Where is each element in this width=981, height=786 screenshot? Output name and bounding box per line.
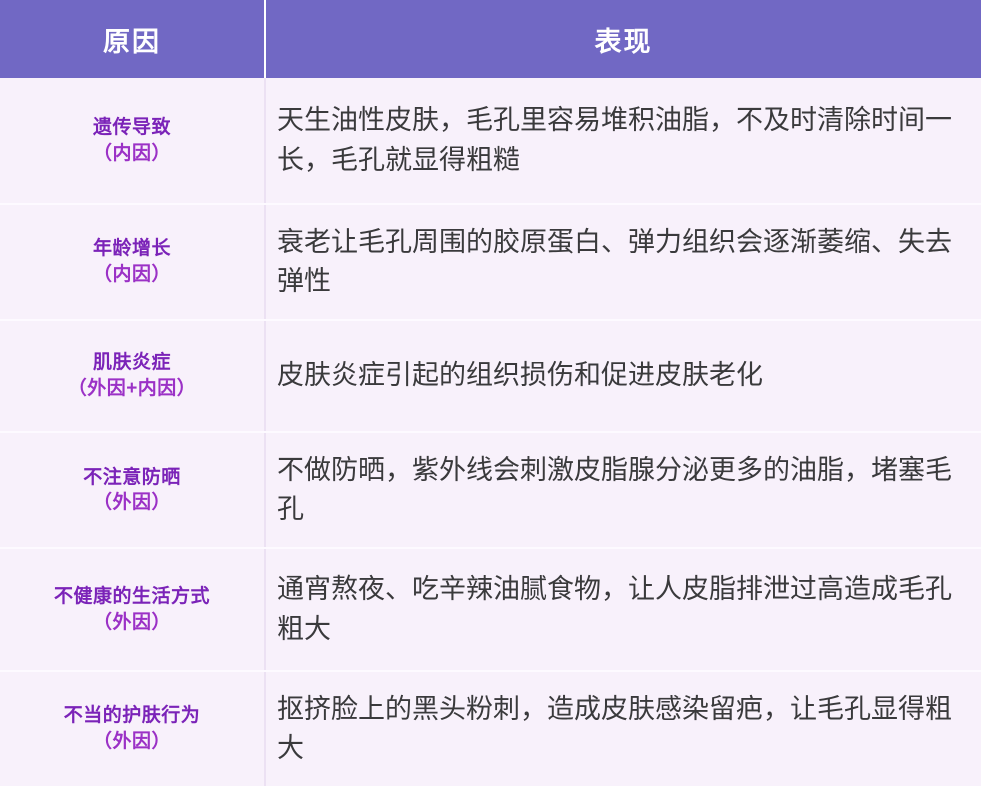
cause-title: 不健康的生活方式 — [54, 584, 210, 610]
symptom-description: 衰老让毛孔周围的胶原蛋白、弹力组织会逐渐萎缩、失去弹性 — [277, 223, 973, 301]
cell-cause: 遗传导致 （内因） — [0, 78, 266, 203]
cause-title: 不注意防晒 — [83, 465, 181, 491]
table-row: 年龄增长 （内因） 衰老让毛孔周围的胶原蛋白、弹力组织会逐渐萎缩、失去弹性 — [0, 205, 981, 320]
cell-cause: 不健康的生活方式 （外因） — [0, 549, 266, 669]
symptom-description: 通宵熬夜、吃辛辣油腻食物，让人皮脂排泄过高造成毛孔粗大 — [277, 570, 973, 648]
table-row: 不健康的生活方式 （外因） 通宵熬夜、吃辛辣油腻食物，让人皮脂排泄过高造成毛孔粗… — [0, 549, 981, 671]
symptom-description: 天生油性皮肤，毛孔里容易堆积油脂，不及时清除时间一长，毛孔就显得粗糙 — [277, 101, 973, 179]
cause-category: （内因） — [93, 141, 171, 167]
cause-category: （外因） — [93, 490, 171, 516]
symptom-description: 不做防晒，紫外线会刺激皮脂腺分泌更多的油脂，堵塞毛孔 — [277, 451, 973, 529]
cell-symptom: 天生油性皮肤，毛孔里容易堆积油脂，不及时清除时间一长，毛孔就显得粗糙 — [266, 78, 981, 203]
cause-title: 年龄增长 — [93, 236, 171, 262]
cause-category: （外因+内因） — [68, 376, 197, 402]
cell-cause: 肌肤炎症 （外因+内因） — [0, 321, 266, 431]
cause-title: 肌肤炎症 — [93, 350, 171, 376]
cause-category: （外因） — [93, 729, 171, 755]
column-header-cause: 原因 — [0, 0, 266, 78]
table-row: 肌肤炎症 （外因+内因） 皮肤炎症引起的组织损伤和促进皮肤老化 — [0, 321, 981, 433]
table-row: 遗传导致 （内因） 天生油性皮肤，毛孔里容易堆积油脂，不及时清除时间一长，毛孔就… — [0, 78, 981, 205]
cell-symptom: 抠挤脸上的黑头粉刺，造成皮肤感染留疤，让毛孔显得粗大 — [266, 672, 981, 786]
cause-category: （外因） — [93, 610, 171, 636]
table-body: 遗传导致 （内因） 天生油性皮肤，毛孔里容易堆积油脂，不及时清除时间一长，毛孔就… — [0, 78, 981, 786]
table-header-row: 原因 表现 — [0, 0, 981, 78]
cause-category: （内因） — [93, 262, 171, 288]
cause-title: 不当的护肤行为 — [64, 703, 201, 729]
symptom-description: 皮肤炎症引起的组织损伤和促进皮肤老化 — [277, 356, 763, 395]
table-row: 不注意防晒 （外因） 不做防晒，紫外线会刺激皮脂腺分泌更多的油脂，堵塞毛孔 — [0, 433, 981, 549]
cell-cause: 不当的护肤行为 （外因） — [0, 672, 266, 786]
cause-title: 遗传导致 — [93, 115, 171, 141]
cell-symptom: 皮肤炎症引起的组织损伤和促进皮肤老化 — [266, 321, 981, 431]
table-row: 不当的护肤行为 （外因） 抠挤脸上的黑头粉刺，造成皮肤感染留疤，让毛孔显得粗大 — [0, 672, 981, 786]
causes-table: 原因 表现 遗传导致 （内因） 天生油性皮肤，毛孔里容易堆积油脂，不及时清除时间… — [0, 0, 981, 786]
symptom-description: 抠挤脸上的黑头粉刺，造成皮肤感染留疤，让毛孔显得粗大 — [277, 690, 973, 768]
cell-symptom: 不做防晒，紫外线会刺激皮脂腺分泌更多的油脂，堵塞毛孔 — [266, 433, 981, 547]
cell-symptom: 通宵熬夜、吃辛辣油腻食物，让人皮脂排泄过高造成毛孔粗大 — [266, 549, 981, 669]
cell-cause: 年龄增长 （内因） — [0, 205, 266, 318]
column-header-symptom: 表现 — [266, 0, 981, 78]
cell-symptom: 衰老让毛孔周围的胶原蛋白、弹力组织会逐渐萎缩、失去弹性 — [266, 205, 981, 318]
cell-cause: 不注意防晒 （外因） — [0, 433, 266, 547]
